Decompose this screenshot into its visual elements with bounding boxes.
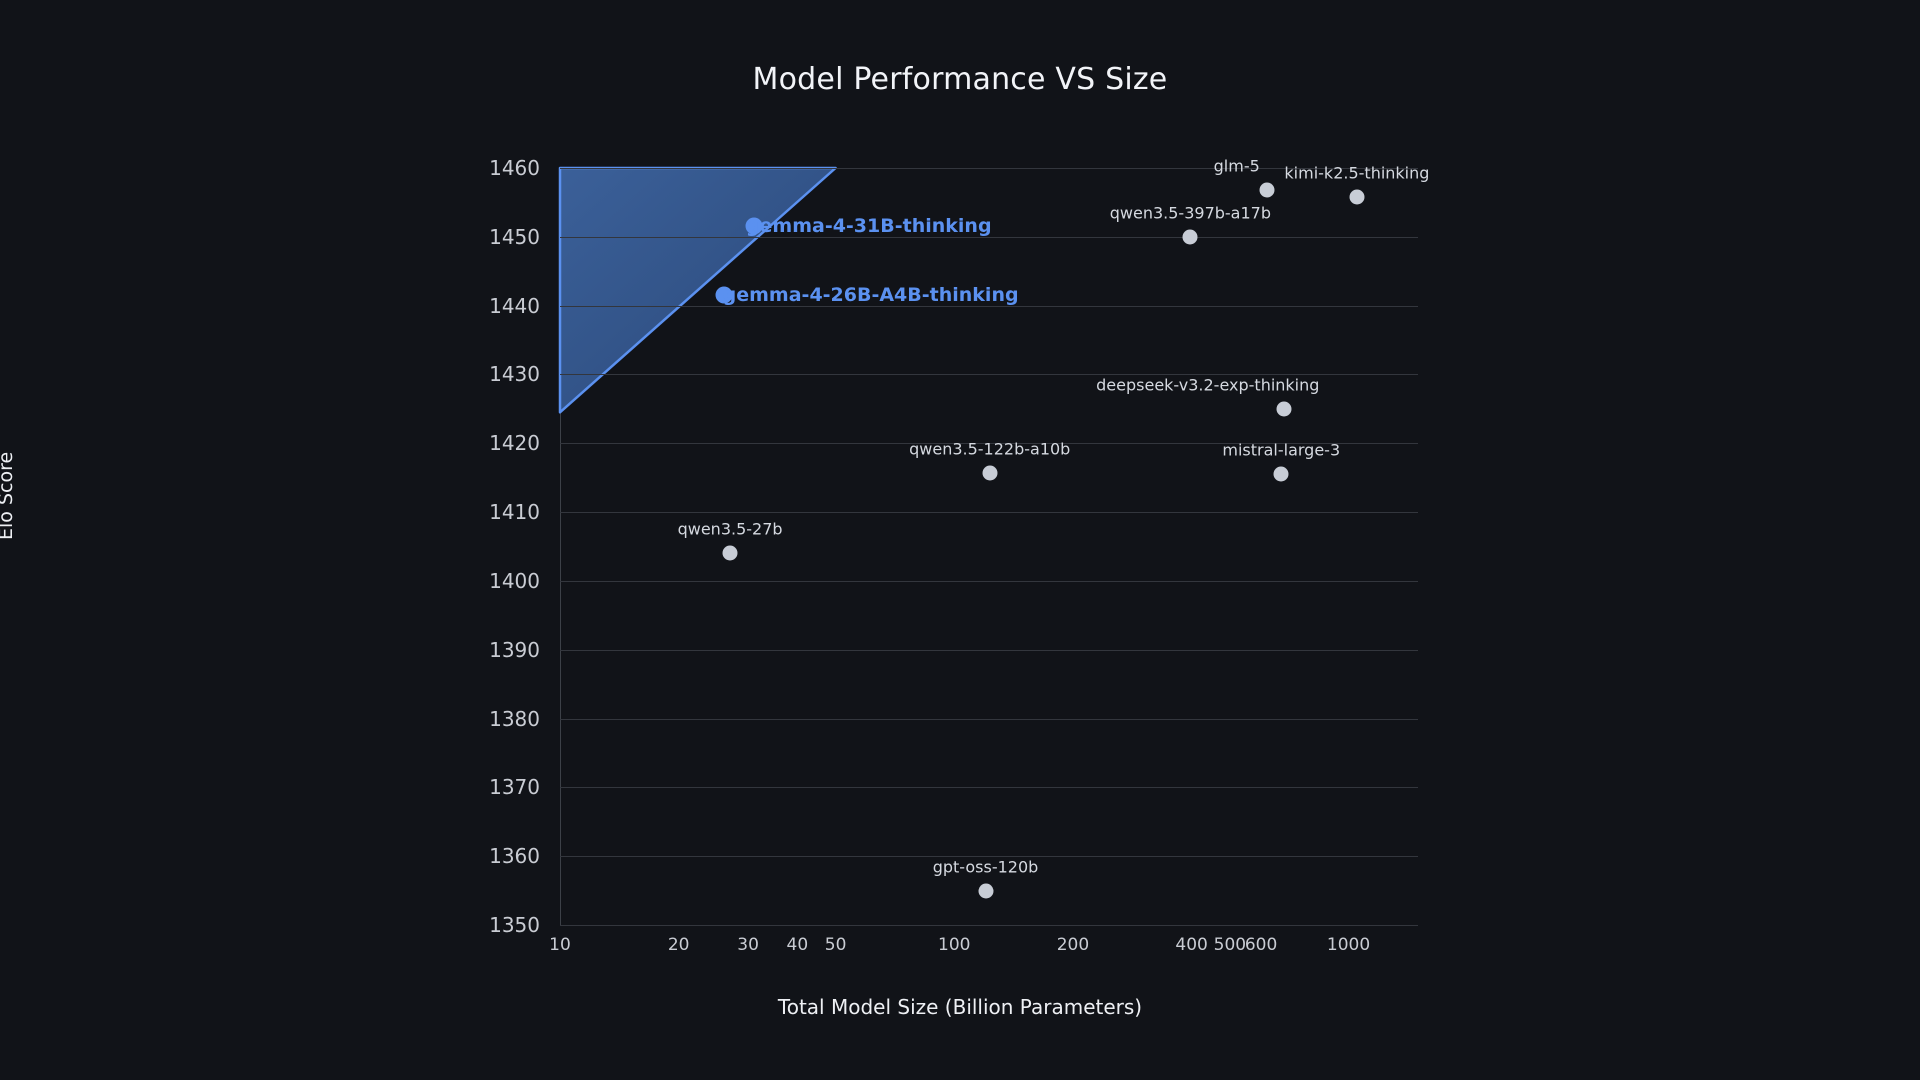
data-point-label: gemma-4-26B-A4B-thinking <box>723 284 1019 306</box>
x-tick-label: 20 <box>668 935 690 955</box>
data-point-label: gpt-oss-120b <box>933 857 1039 876</box>
y-tick-label: 1420 <box>420 431 540 455</box>
data-point-label: qwen3.5-397b-a17b <box>1110 203 1271 222</box>
y-tick-label: 1360 <box>420 844 540 868</box>
y-axis-title: Elo Score <box>0 452 17 540</box>
x-tick-label: 40 <box>787 935 809 955</box>
y-tick-label: 1440 <box>420 294 540 318</box>
x-tick-label: 30 <box>737 935 759 955</box>
gridline <box>560 719 1418 720</box>
gridline <box>560 512 1418 513</box>
data-point-label: glm-5 <box>1214 157 1260 176</box>
y-tick-label: 1370 <box>420 775 540 799</box>
data-point[interactable] <box>1259 183 1274 198</box>
y-tick-label: 1350 <box>420 913 540 937</box>
data-point[interactable] <box>1276 401 1291 416</box>
data-point-label: kimi-k2.5-thinking <box>1284 163 1429 182</box>
data-point[interactable] <box>1349 189 1364 204</box>
data-point-label: mistral-large-3 <box>1222 441 1340 460</box>
y-tick-label: 1400 <box>420 569 540 593</box>
y-tick-label: 1460 <box>420 156 540 180</box>
x-tick-label: 500 <box>1214 935 1246 955</box>
gridline <box>560 925 1418 926</box>
y-tick-label: 1430 <box>420 362 540 386</box>
data-point[interactable] <box>978 883 993 898</box>
gridline <box>560 787 1418 788</box>
data-point[interactable] <box>723 546 738 561</box>
chart-root: Model Performance VS Size Elo Score Tota… <box>0 0 1920 1080</box>
x-tick-label: 1000 <box>1327 935 1370 955</box>
x-tick-label: 600 <box>1245 935 1277 955</box>
x-tick-label: 200 <box>1057 935 1089 955</box>
data-point[interactable] <box>1183 229 1198 244</box>
x-axis-title: Total Model Size (Billion Parameters) <box>0 995 1920 1019</box>
data-point-label: gemma-4-31B-thinking <box>746 215 992 237</box>
x-tick-label: 10 <box>549 935 571 955</box>
x-axis-ticks: 10203040501002004005006001000 <box>560 935 1418 965</box>
data-point-label: qwen3.5-27b <box>678 520 783 539</box>
plot-area: gemma-4-31B-thinkinggemma-4-26B-A4B-thin… <box>560 168 1418 925</box>
gridline <box>560 650 1418 651</box>
frontier-region <box>560 168 1418 925</box>
y-tick-label: 1390 <box>420 638 540 662</box>
x-tick-label: 100 <box>938 935 970 955</box>
y-tick-label: 1380 <box>420 707 540 731</box>
y-tick-label: 1410 <box>420 500 540 524</box>
data-point-label: qwen3.5-122b-a10b <box>909 439 1070 458</box>
gridline <box>560 581 1418 582</box>
y-axis-ticks: 1350136013701380139014001410142014301440… <box>410 168 540 925</box>
x-tick-label: 400 <box>1175 935 1207 955</box>
data-point[interactable] <box>982 465 997 480</box>
data-point[interactable] <box>1274 467 1289 482</box>
x-tick-label: 50 <box>825 935 847 955</box>
chart-title: Model Performance VS Size <box>0 62 1920 97</box>
y-tick-label: 1450 <box>420 225 540 249</box>
data-point-label: deepseek-v3.2-exp-thinking <box>1096 375 1319 394</box>
